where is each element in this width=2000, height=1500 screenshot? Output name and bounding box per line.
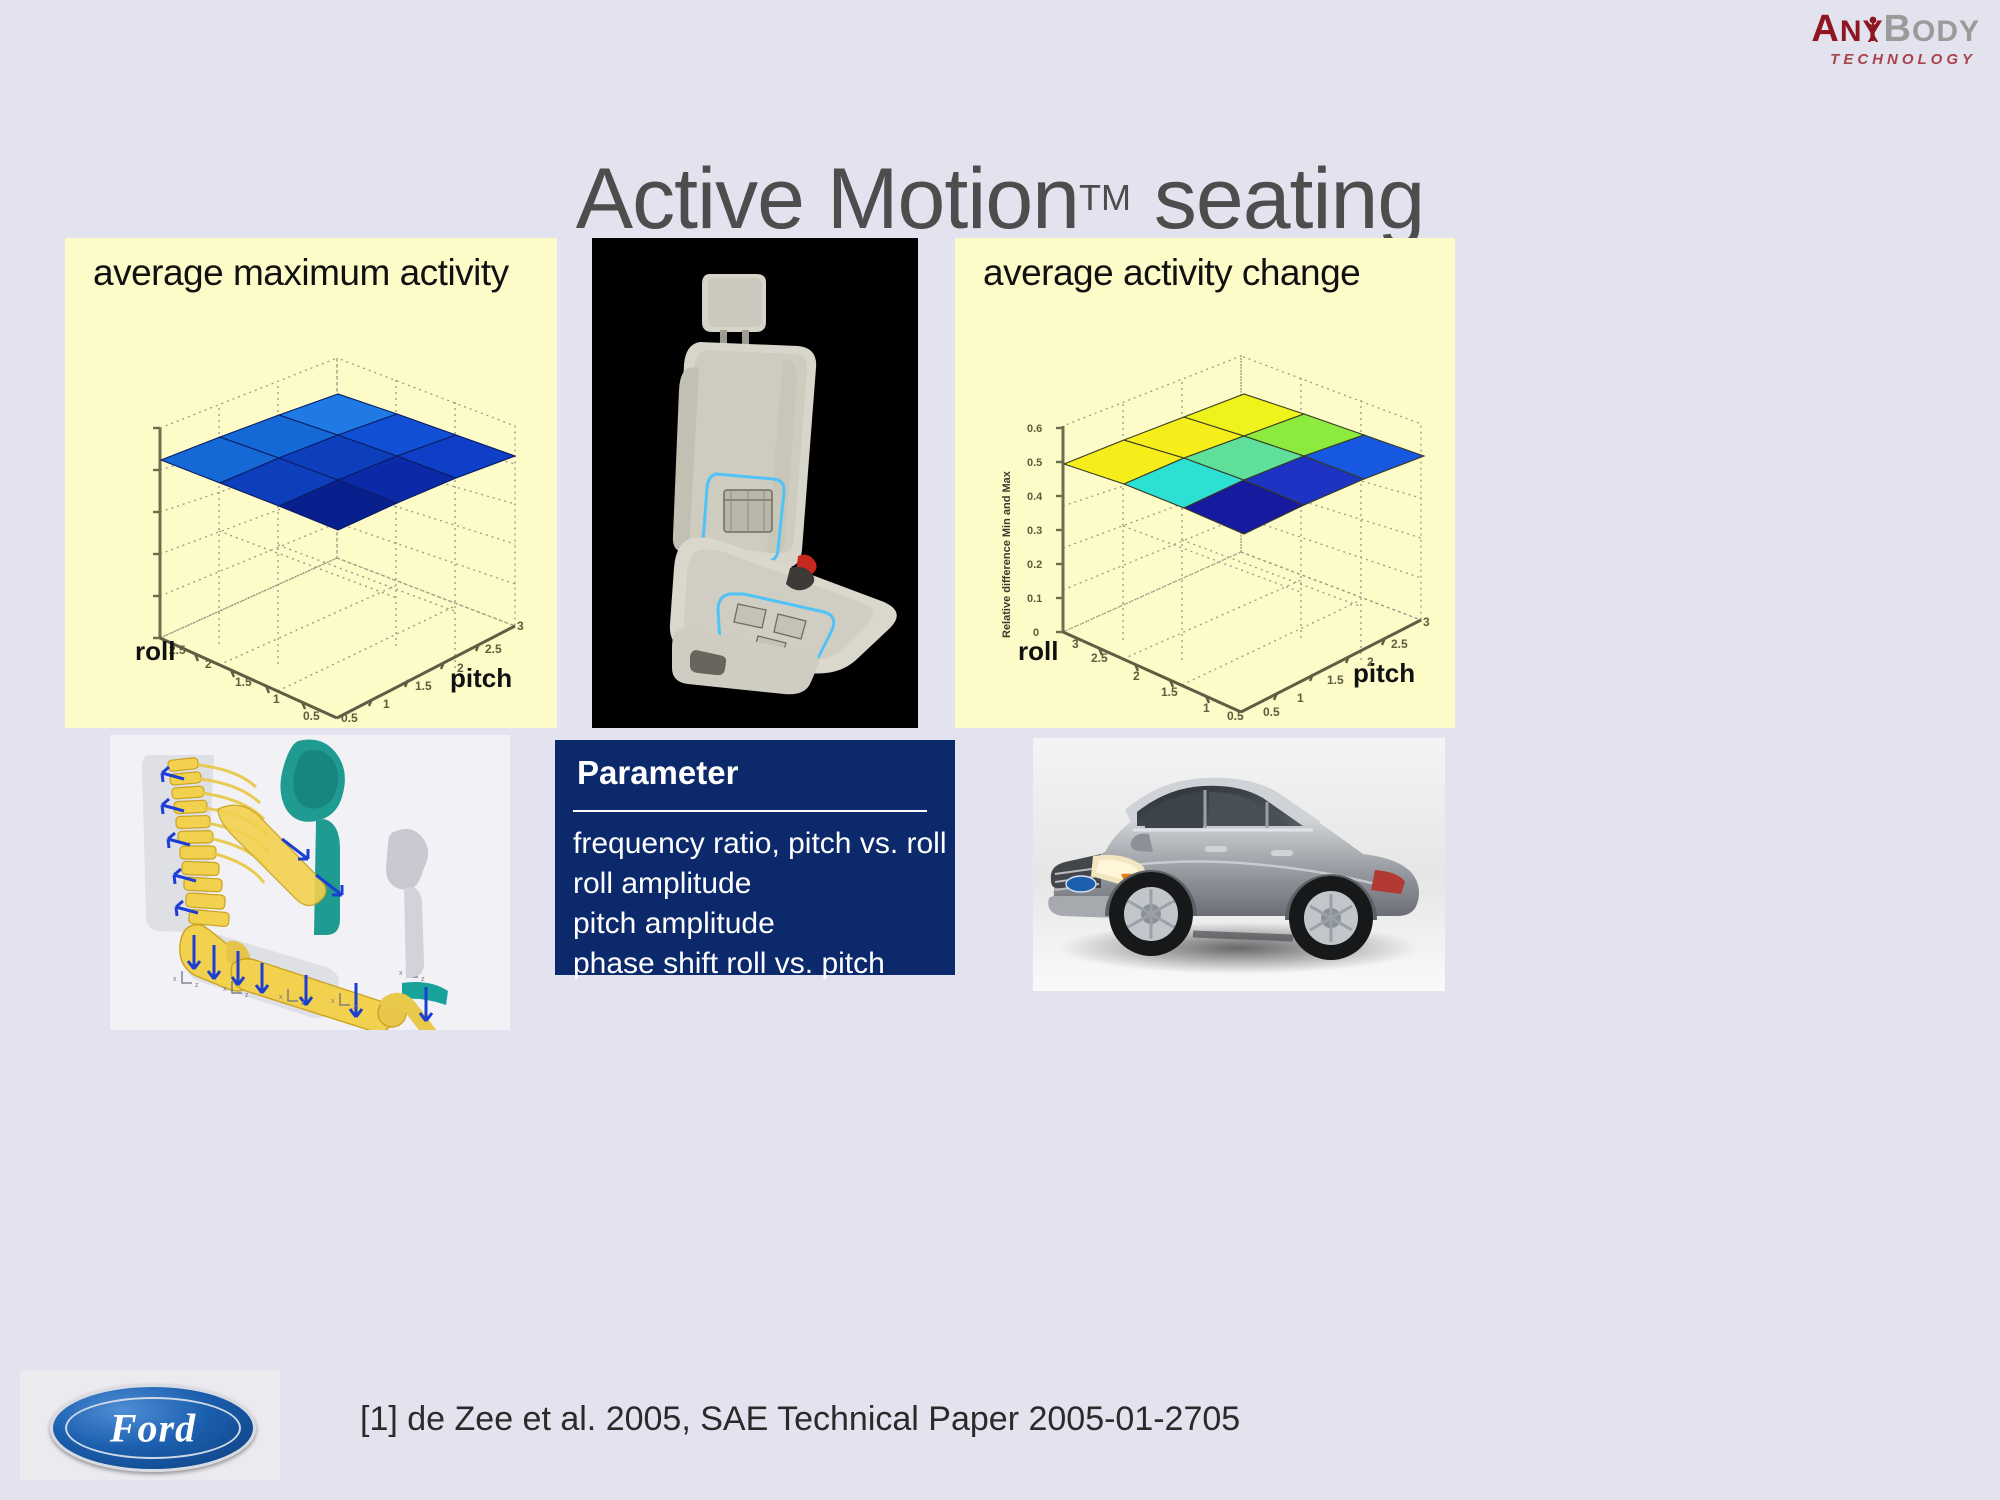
page-title: Active MotionTM seating bbox=[0, 150, 2000, 249]
person-icon bbox=[1865, 16, 1881, 42]
svg-text:0.5: 0.5 bbox=[303, 709, 320, 723]
svg-text:0.5: 0.5 bbox=[1227, 709, 1244, 723]
right-chart-pitch-label: pitch bbox=[1353, 658, 1415, 689]
svg-text:2: 2 bbox=[1133, 669, 1140, 683]
svg-text:x: x bbox=[279, 994, 283, 1001]
ford-wordmark: Ford bbox=[53, 1405, 253, 1452]
svg-text:1.5: 1.5 bbox=[235, 675, 252, 689]
parameter-divider bbox=[573, 810, 927, 812]
svg-text:x: x bbox=[223, 986, 227, 993]
svg-text:0.2: 0.2 bbox=[1027, 559, 1042, 571]
parameter-box: Parameter frequency ratio, pitch vs. rol… bbox=[555, 740, 955, 975]
svg-text:z: z bbox=[301, 1000, 305, 1007]
svg-text:x: x bbox=[331, 998, 335, 1005]
svg-text:2: 2 bbox=[205, 657, 212, 671]
panel-average-activity-change: average activity change bbox=[955, 238, 1455, 728]
svg-text:x: x bbox=[173, 976, 177, 983]
svg-text:1.5: 1.5 bbox=[1327, 673, 1344, 687]
svg-text:z: z bbox=[421, 976, 425, 983]
car-seat-illustration bbox=[592, 238, 918, 728]
right-chart-zaxis-label: Relative difference Min and Max bbox=[1001, 471, 1013, 638]
ford-logo: Ford bbox=[20, 1370, 280, 1480]
right-chart-title: average activity change bbox=[983, 252, 1360, 294]
title-tail: seating bbox=[1131, 151, 1424, 247]
left-chart-roll-label: roll bbox=[135, 636, 175, 667]
anybody-technology-logo: ANYBODY TECHNOLOGY bbox=[1740, 10, 1980, 80]
svg-text:2.5: 2.5 bbox=[1091, 651, 1108, 665]
svg-text:1.5: 1.5 bbox=[415, 679, 432, 693]
svg-text:1: 1 bbox=[383, 697, 390, 711]
svg-text:z: z bbox=[195, 982, 199, 989]
ford-sedan-illustration bbox=[1033, 738, 1445, 991]
right-chart-roll-label: roll bbox=[1018, 636, 1058, 667]
left-chart-pitch-label: pitch bbox=[450, 663, 512, 694]
panel-car-photo bbox=[1033, 738, 1445, 991]
svg-text:z: z bbox=[245, 992, 249, 999]
svg-text:0.5: 0.5 bbox=[1263, 705, 1280, 719]
svg-text:x: x bbox=[399, 970, 403, 977]
svg-text:3: 3 bbox=[1423, 615, 1430, 629]
logo-body-text: B bbox=[1884, 8, 1912, 50]
logo-any-text: A bbox=[1811, 8, 1839, 50]
left-chart-title: average maximum activity bbox=[93, 252, 509, 294]
svg-text:1: 1 bbox=[1297, 691, 1304, 705]
svg-text:3: 3 bbox=[517, 619, 524, 633]
parameter-heading: Parameter bbox=[577, 754, 738, 792]
svg-text:0.4: 0.4 bbox=[1027, 491, 1043, 503]
parameter-item: frequency ratio, pitch vs. roll bbox=[573, 824, 947, 864]
ford-oval-shape: Ford bbox=[50, 1384, 256, 1472]
parameter-item: pitch amplitude bbox=[573, 904, 947, 944]
trademark-mark: TM bbox=[1079, 177, 1131, 218]
svg-text:0.3: 0.3 bbox=[1027, 525, 1042, 537]
parameter-list: frequency ratio, pitch vs. roll roll amp… bbox=[573, 824, 947, 984]
parameter-item: roll amplitude bbox=[573, 864, 947, 904]
svg-text:3: 3 bbox=[1072, 637, 1079, 651]
panel-skeleton-model: xz xz xz xz xz bbox=[110, 735, 510, 1030]
panel-average-maximum-activity: average maximum activity bbox=[65, 238, 557, 728]
panel-seat-photo bbox=[592, 238, 918, 728]
citation-text: [1] de Zee et al. 2005, SAE Technical Pa… bbox=[360, 1400, 1240, 1439]
svg-text:0.1: 0.1 bbox=[1027, 593, 1042, 605]
svg-text:2.5: 2.5 bbox=[485, 642, 502, 656]
logo-body-rest: ODY bbox=[1912, 15, 1980, 48]
svg-text:0.5: 0.5 bbox=[1027, 457, 1042, 469]
svg-text:2.5: 2.5 bbox=[1391, 637, 1408, 651]
parameter-item: phase shift roll vs. pitch bbox=[573, 944, 947, 984]
svg-text:z: z bbox=[353, 1004, 357, 1011]
svg-text:0.6: 0.6 bbox=[1027, 423, 1042, 435]
svg-text:1.5: 1.5 bbox=[1161, 685, 1178, 699]
svg-text:0.5: 0.5 bbox=[341, 711, 358, 725]
title-main: Active Motion bbox=[576, 151, 1079, 247]
musculoskeletal-model-illustration: xz xz xz xz xz bbox=[110, 735, 510, 1030]
svg-text:1: 1 bbox=[273, 692, 280, 706]
logo-wordmark: ANYBODY bbox=[1740, 10, 1980, 48]
logo-tagline: TECHNOLOGY bbox=[1740, 52, 1976, 67]
slide-root: ANYBODY TECHNOLOGY Active MotionTM seati… bbox=[0, 0, 2000, 1500]
svg-text:1: 1 bbox=[1203, 701, 1210, 715]
